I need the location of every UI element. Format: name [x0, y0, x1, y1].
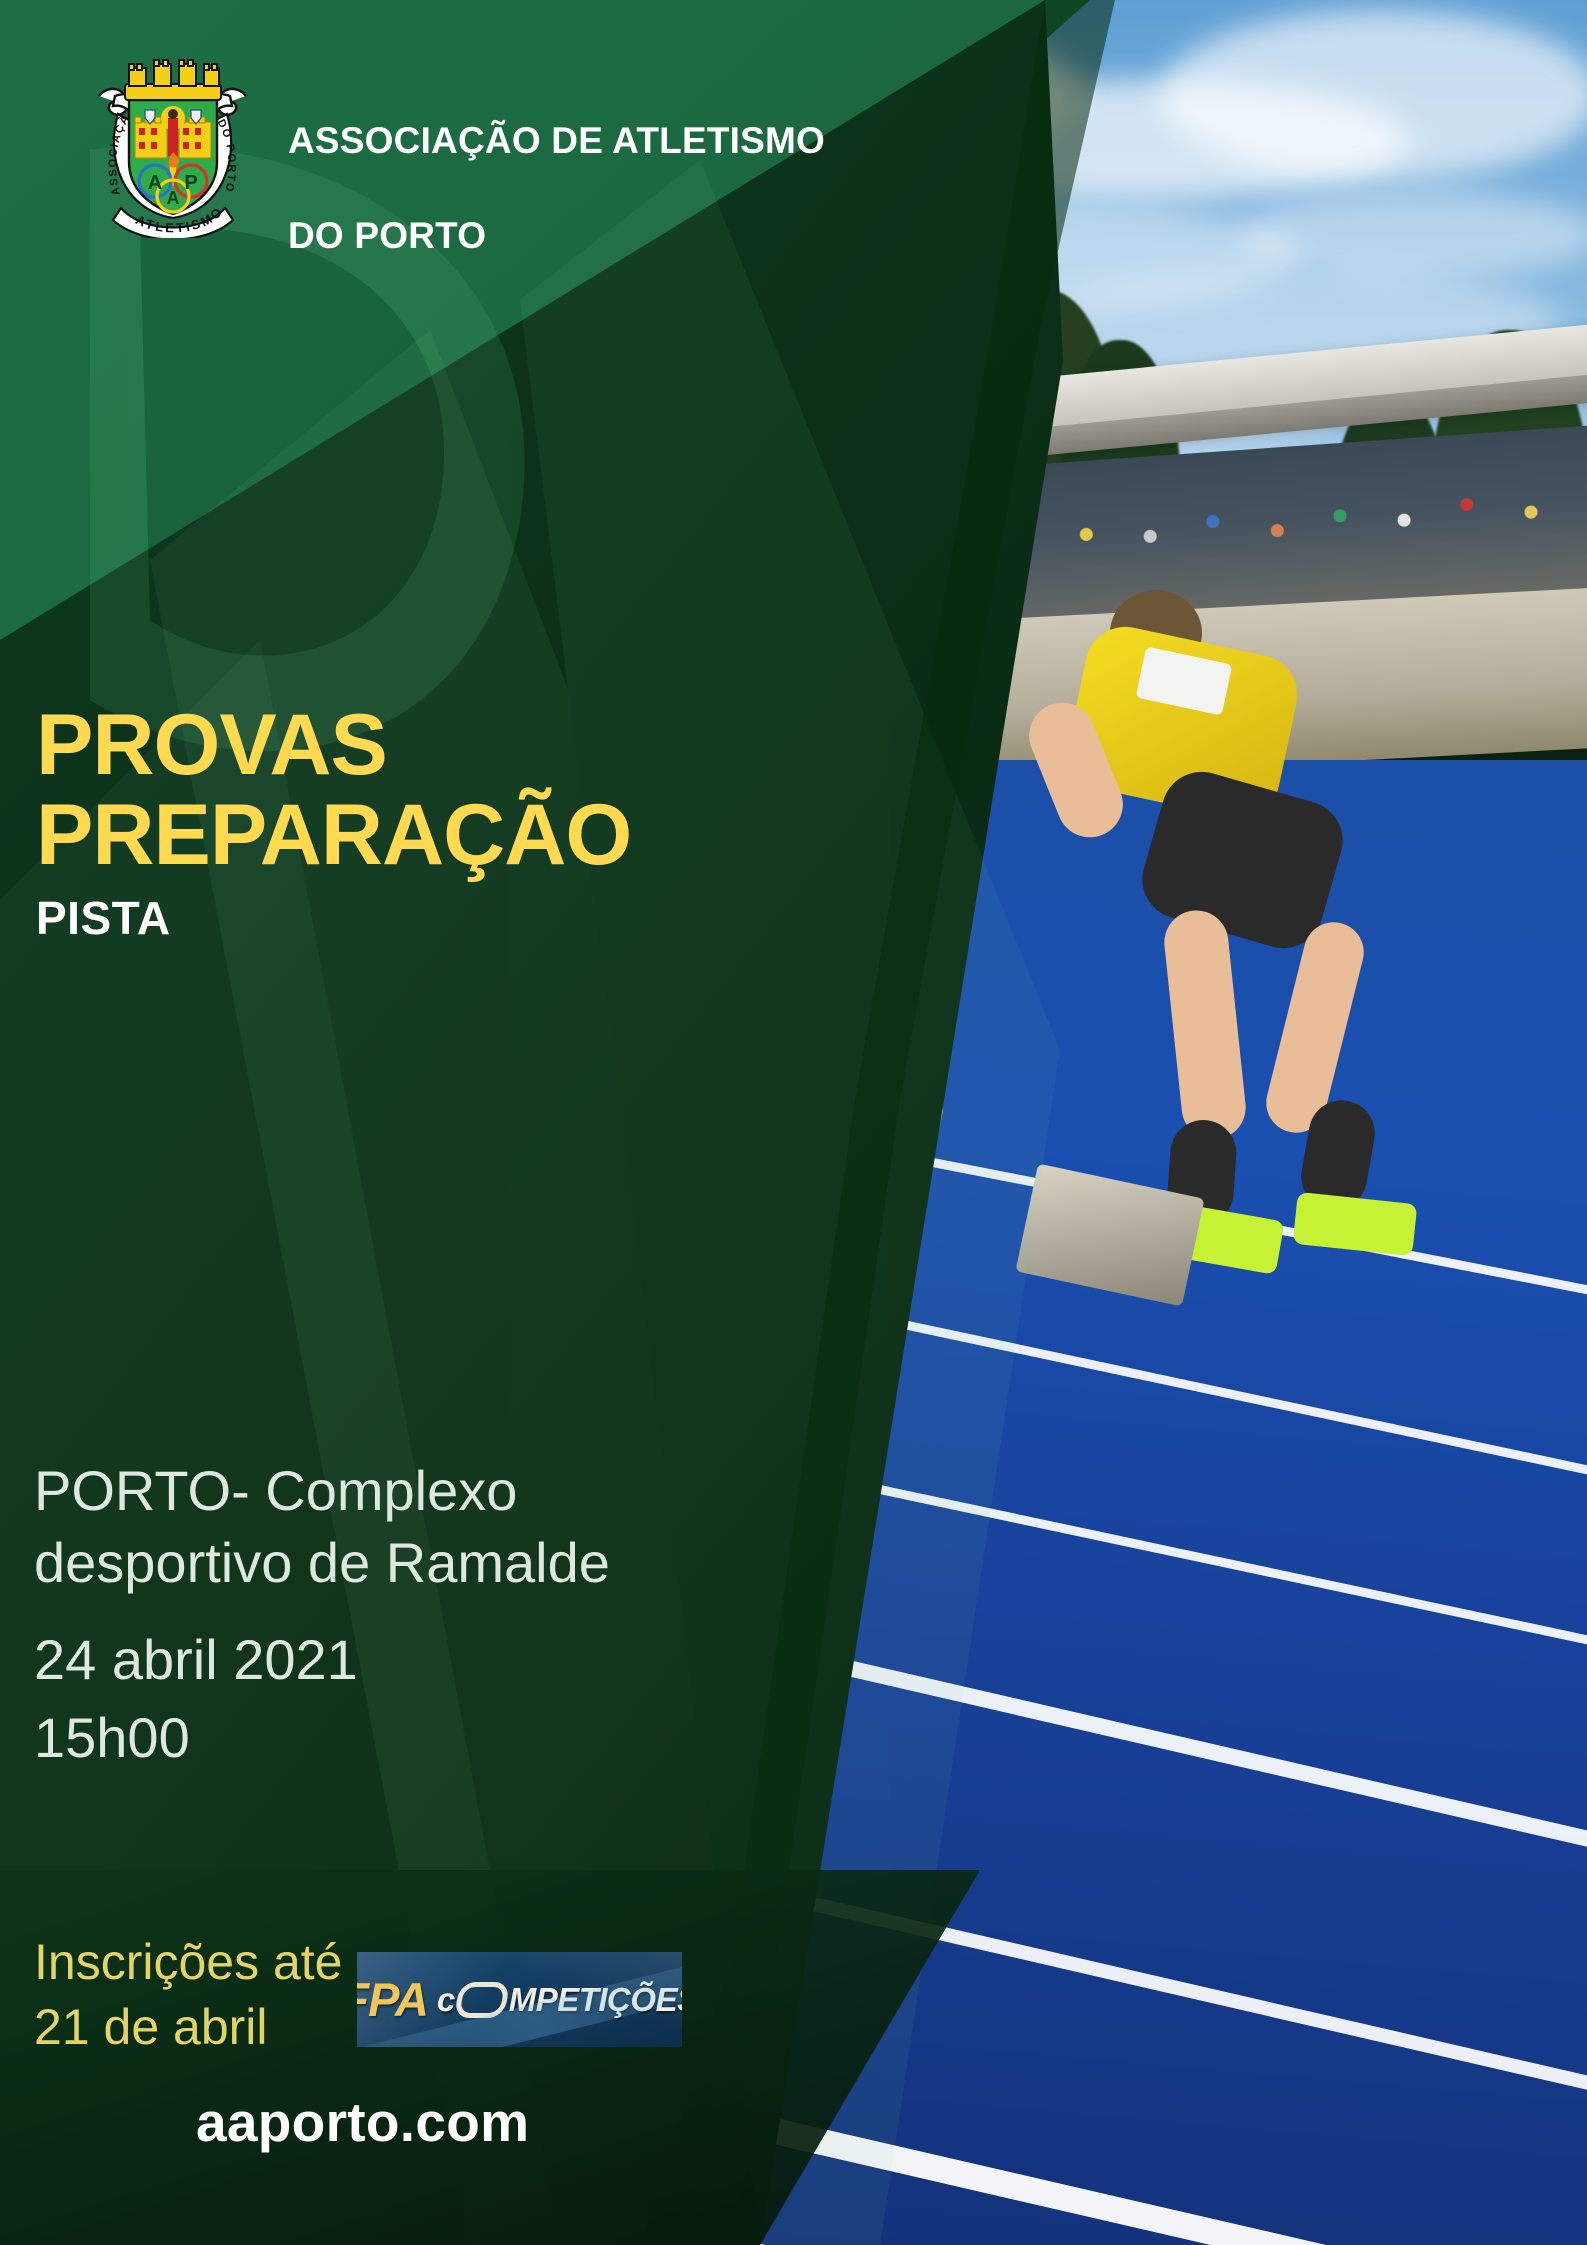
organization-name-line2: DO PORTO [288, 212, 825, 259]
poster-content: A P A ATLETISMO ASSOCIAÇÃO DE DO PORTO [0, 0, 1587, 2245]
headline-line1: PROVAS [36, 700, 736, 790]
headline-line2: PREPARAÇÃO [36, 790, 736, 880]
organization-name-line1: ASSOCIAÇÃO DE ATLETISMO [288, 117, 825, 164]
brand-header: A P A ATLETISMO ASSOCIAÇÃO DE DO PORTO [85, 48, 825, 307]
track-oval-icon [453, 1982, 510, 2018]
poster-canvas: A P A ATLETISMO ASSOCIAÇÃO DE DO PORTO [0, 0, 1587, 2245]
svg-text:P: P [184, 172, 197, 194]
fpa-mark: FPA [357, 1972, 428, 2027]
headline-block: PROVAS PREPARAÇÃO PISTA [36, 700, 736, 946]
organization-name: ASSOCIAÇÃO DE ATLETISMO DO PORTO [288, 70, 825, 307]
event-time: 15h00 [34, 1702, 694, 1774]
fpa-competicoes-logo: FPA c MPETIÇÕES [357, 1952, 682, 2047]
svg-text:A: A [148, 172, 162, 194]
venue: PORTO- Complexo desportivo de Ramalde [34, 1455, 694, 1598]
event-details: PORTO- Complexo desportivo de Ramalde 24… [34, 1455, 694, 1774]
fpa-word-suffix: MPETIÇÕES [509, 1981, 682, 2019]
aap-crest-logo: A P A ATLETISMO ASSOCIAÇÃO DE DO PORTO [85, 48, 260, 238]
fpa-competicoes-word: c MPETIÇÕES [437, 1981, 682, 2019]
event-date: 24 abril 2021 [34, 1624, 694, 1696]
venue-line1: PORTO- Complexo [34, 1455, 694, 1527]
svg-text:A: A [167, 188, 180, 208]
headline-subtitle: PISTA [36, 891, 736, 946]
venue-line2: desportivo de Ramalde [34, 1527, 694, 1599]
fpa-word-prefix: c [437, 1981, 455, 2019]
website-url[interactable]: aaporto.com [196, 2090, 529, 2154]
